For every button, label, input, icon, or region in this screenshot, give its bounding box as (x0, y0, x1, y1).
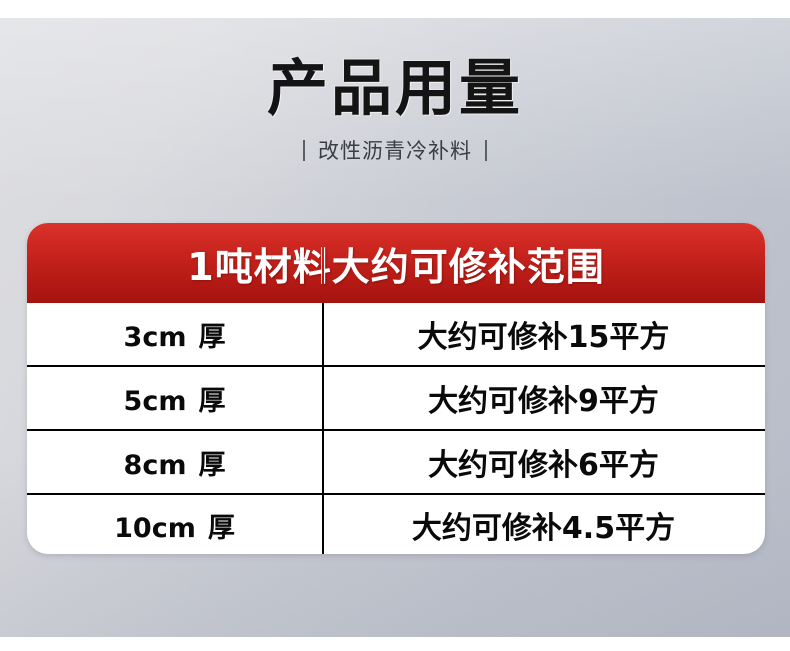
table-row: 5cm厚 大约可修补9平方 (27, 367, 765, 431)
table-cell-thickness: 8cm厚 (27, 443, 322, 482)
thickness-value: 10cm (114, 513, 196, 544)
table-cell-thickness: 3cm厚 (27, 315, 322, 354)
thickness-value: 8cm (124, 450, 187, 481)
table-cell-coverage: 大约可修补4.5平方 (322, 503, 765, 547)
page-title: 产品用量 (0, 58, 790, 119)
table-cell-coverage: 大约可修补9平方 (322, 376, 765, 420)
usage-card-banner: 1吨材料大约可修补范围 (27, 223, 765, 303)
subtitle-row: 改性沥青冷补料 (0, 135, 790, 165)
thickness-unit-label: 厚 (208, 513, 235, 544)
thickness-unit-label: 厚 (198, 450, 225, 481)
table-row: 8cm厚 大约可修补6平方 (27, 431, 765, 495)
table-cell-thickness: 10cm厚 (27, 506, 322, 545)
table-cell-thickness: 5cm厚 (27, 379, 322, 418)
table-cell-coverage: 大约可修补6平方 (322, 440, 765, 484)
usage-card: 1吨材料大约可修补范围 3cm厚 大约可修补15平方 5cm厚 大约可修补9平方… (27, 223, 765, 554)
thickness-value: 5cm (124, 386, 187, 417)
thickness-unit-label: 厚 (198, 322, 225, 353)
subtitle-rule-left-icon (303, 140, 305, 161)
table-cell-coverage: 大约可修补15平方 (322, 312, 765, 356)
subtitle-rule-right-icon (485, 140, 487, 161)
table-row: 3cm厚 大约可修补15平方 (27, 303, 765, 367)
page-header: 产品用量 改性沥青冷补料 (0, 58, 790, 165)
thickness-unit-label: 厚 (198, 386, 225, 417)
usage-table: 3cm厚 大约可修补15平方 5cm厚 大约可修补9平方 8cm厚 大约可修补6… (27, 303, 765, 554)
page-subtitle: 改性沥青冷补料 (318, 135, 472, 165)
table-column-divider-banner-mask (322, 223, 324, 303)
table-row: 10cm厚 大约可修补4.5平方 (27, 495, 765, 554)
thickness-value: 3cm (124, 322, 187, 353)
product-usage-page: 产品用量 改性沥青冷补料 1吨材料大约可修补范围 3cm厚 大约可修补15平方 … (0, 0, 790, 651)
usage-card-banner-title: 1吨材料大约可修补范围 (187, 236, 604, 291)
